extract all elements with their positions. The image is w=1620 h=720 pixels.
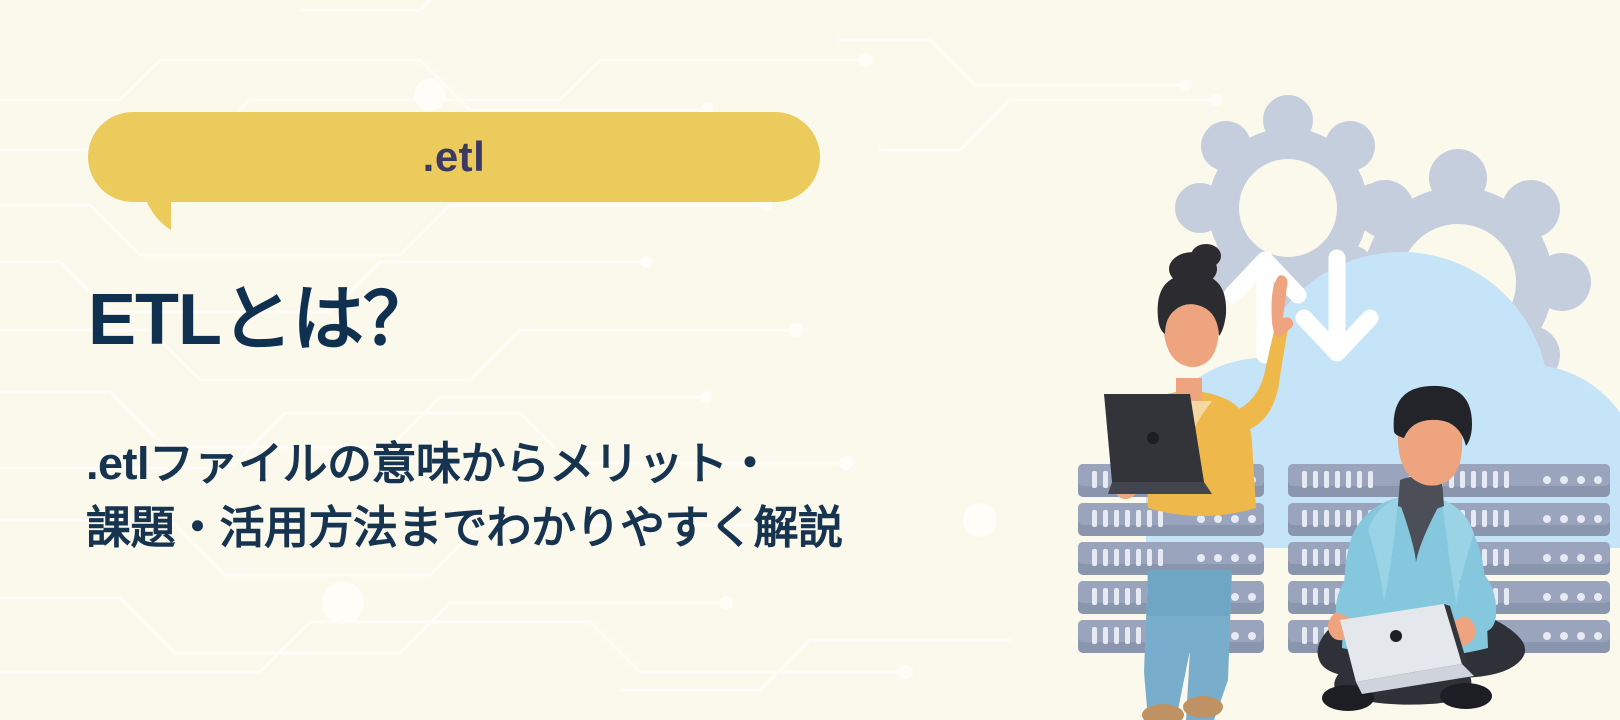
page-title: ETLとは？ (88, 283, 434, 359)
page-subtitle-line-2: 課題・活用方法までわかりやすく解説 (86, 496, 843, 560)
page-subtitle-line-1: .etlファイルの意味からメリット・ (86, 432, 843, 496)
hero-banner: .etl ETLとは？ .etlファイルの意味からメリット・ 課題・活用方法まで… (0, 0, 1620, 720)
badge-label: .etl (88, 112, 820, 202)
file-extension-badge: .etl (88, 112, 820, 230)
cloud-data-engineers-illustration (1000, 60, 1620, 720)
page-subtitle: .etlファイルの意味からメリット・ 課題・活用方法までわかりやすく解説 (86, 432, 843, 560)
